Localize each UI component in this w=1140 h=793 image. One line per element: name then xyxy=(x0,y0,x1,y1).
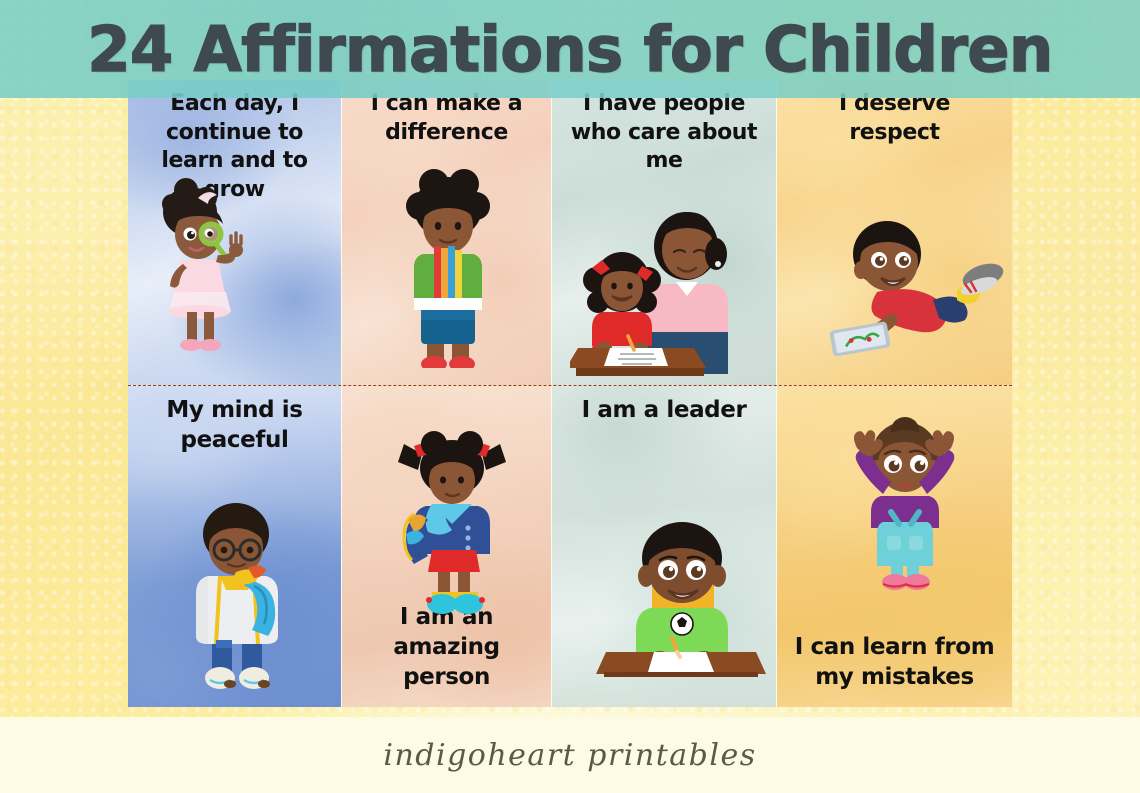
boy-writing-at-desk-illustration xyxy=(596,512,766,677)
mother-helping-girl-write-illustration xyxy=(570,198,760,378)
girl-with-magnifying-glass-illustration xyxy=(146,176,266,366)
affirmation-card-5[interactable]: My mind is peaceful xyxy=(128,386,341,707)
affirmation-card-8[interactable]: I can learn from my mistakes xyxy=(777,386,1012,707)
printable-sheet: Each day, I continue to learn and to gro… xyxy=(0,0,1140,793)
card-8-text: I can learn from my mistakes xyxy=(777,633,1012,693)
affirmation-card-1[interactable]: Each day, I continue to learn and to gro… xyxy=(128,80,341,385)
affirmation-card-4[interactable]: I deserve respect xyxy=(777,80,1012,385)
affirmation-card-7[interactable]: I am a leader xyxy=(552,386,776,707)
girl-with-pigtails-and-backpack-illustration xyxy=(388,424,518,614)
card-3-text: I have people who care about me xyxy=(552,90,776,176)
affirmation-card-3[interactable]: I have people who care about me xyxy=(552,80,776,385)
footer-bar: indigoheart printables xyxy=(0,717,1140,793)
card-4-text: I deserve respect xyxy=(777,90,1012,147)
card-7-text: I am a leader xyxy=(552,396,776,426)
page-title: 24 Affirmations for Children xyxy=(0,0,1140,98)
card-2-text: I can make a difference xyxy=(342,90,551,147)
boy-holding-books-illustration xyxy=(390,168,510,368)
affirmation-card-6[interactable]: I am an amazing person xyxy=(342,386,551,707)
girl-with-arms-raised-illustration xyxy=(839,400,969,590)
card-5-text: My mind is peaceful xyxy=(128,396,341,456)
card-6-text: I am an amazing person xyxy=(342,603,551,693)
boy-with-glasses-and-backpack-illustration xyxy=(174,494,304,694)
affirmation-card-2[interactable]: I can make a difference xyxy=(342,80,551,385)
boy-lying-with-tablet-illustration xyxy=(825,208,1005,358)
watermark-text: indigoheart printables xyxy=(383,738,756,773)
affirmation-card-grid: Each day, I continue to learn and to gro… xyxy=(128,80,1012,707)
